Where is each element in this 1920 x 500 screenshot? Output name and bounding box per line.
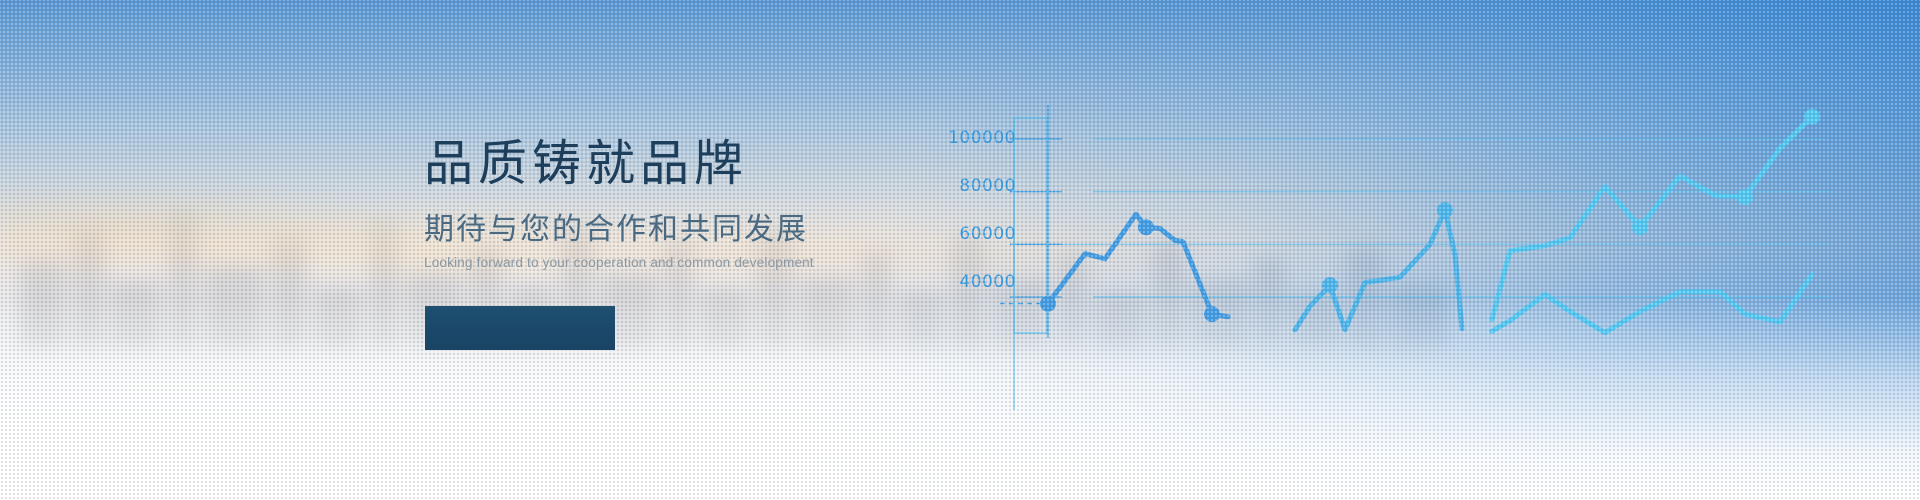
hero-copy: 品质铸就品牌 期待与您的合作和共同发展 Looking forward to y… — [424, 140, 944, 270]
subtitle-chinese: 期待与您的合作和共同发展 — [424, 215, 944, 245]
cta-button[interactable] — [425, 306, 615, 350]
hero-banner: 100000 80000 60000 40000 品质铸就品牌 期待与您的合作和… — [0, 0, 1920, 500]
subtitle-english: Looking forward to your cooperation and … — [424, 256, 944, 270]
page-title: 品质铸就品牌 — [424, 140, 944, 189]
halftone-texture-overlay-light — [0, 0, 1920, 500]
